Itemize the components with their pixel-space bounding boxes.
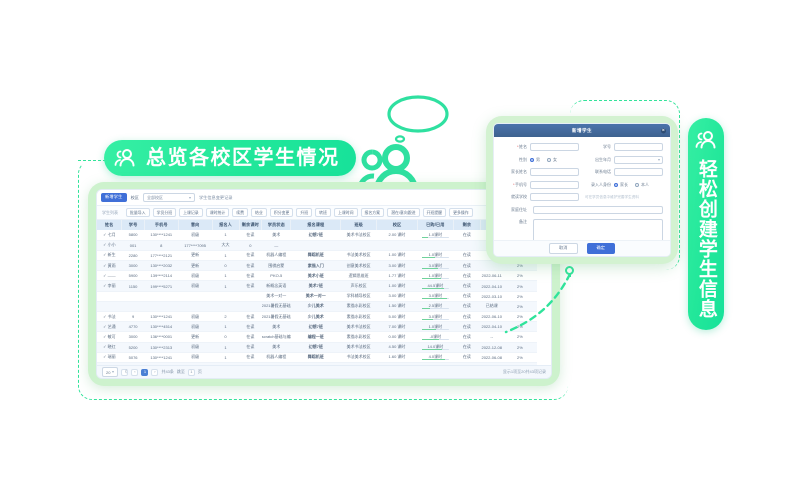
cell-r10-c11: 在读 [453, 332, 480, 342]
table-toolbar: 学生列表 批量导入学员分班上课记录课时统计续费结业积分变更升班转班上课时间报名方… [97, 206, 551, 220]
cell-r5-c7: 美术7班 [291, 281, 341, 291]
table-body: ✓ 七月5800130****1241初级1在读美术幻想7班美术书法校区2.00… [97, 230, 551, 365]
cell-r10-c9: 0.00 课时 [377, 332, 418, 342]
column-header-3[interactable]: 意向 [178, 220, 212, 230]
page-size-value: 20 [106, 370, 110, 375]
table-row[interactable]: ✓ 晓红5200130****2313初级1在读美术幻想7班美术书法校区4.50… [97, 342, 551, 352]
cell-r2-c3: 更新 [178, 250, 212, 260]
cell-r8-c7: 少儿美术 [291, 312, 341, 322]
cell-r13-c6: 小提琴 [262, 362, 291, 365]
progress-bar [422, 329, 449, 330]
change-log-link[interactable]: 学生信息变更记录 [199, 195, 233, 201]
cell-r0-c11: 在读 [453, 230, 480, 240]
campus-filter-value: 全部校区 [147, 195, 163, 201]
gender-option-female[interactable]: 女 [547, 157, 557, 163]
cell-r8-c5: 在读 [239, 312, 262, 322]
cell-r8-c3: 初级 [178, 312, 212, 322]
progress-bar [422, 237, 449, 238]
cell-r9-c6: 美术 [262, 322, 291, 332]
cell-r2-c6: 机器人编程 [262, 250, 291, 260]
cell-r10-c7: 编程一班 [291, 332, 341, 342]
cell-r7-c11: 在读 [453, 301, 480, 311]
form-row: *姓名 学号 [501, 143, 663, 151]
school-input[interactable] [530, 193, 579, 201]
column-header-4[interactable]: 报名人 [212, 220, 239, 230]
cell-r12-c13: 2% [503, 352, 537, 362]
column-header-1[interactable]: 学号 [122, 220, 145, 230]
cell-r5-c4: 1 [212, 281, 239, 291]
column-header-5[interactable]: 剩余课时 [239, 220, 262, 230]
column-header-0[interactable]: 姓名 [97, 220, 122, 230]
close-icon[interactable]: × [661, 128, 666, 133]
toolbar-button-3[interactable]: 课时统计 [206, 208, 230, 218]
cell-r10-c2: 136****0001 [144, 332, 178, 342]
radio-dot-icon [547, 158, 551, 162]
dialog-footer: 取消 确定 [494, 240, 670, 256]
gender-option-male-label: 男 [536, 157, 540, 163]
column-header-11[interactable]: 剩余 [453, 220, 480, 230]
toolbar-button-13[interactable]: 更多操作 [449, 208, 473, 218]
cell-r7-c6: 2021暑假无基础入门课 [262, 301, 291, 311]
cell-r13-c13: 2% [503, 362, 537, 365]
cell-r5-c10: 44.5课时 [417, 281, 453, 291]
cell-r6-c4 [212, 291, 239, 301]
toolbar-title: 学生列表 [102, 210, 118, 216]
birthday-picker[interactable] [614, 156, 663, 164]
cell-r1-c11 [453, 240, 480, 250]
cell-r9-c0: ✓ 艺通 [97, 322, 122, 332]
table-row[interactable]: ✓ 瑞丽5076130****1241初级1在读机器人编程舞蹈机班书法美术校区1… [97, 352, 551, 362]
chevron-down-icon [189, 197, 191, 199]
field-phone: *手机号 [501, 181, 579, 189]
column-header-2[interactable]: 手机号 [144, 220, 178, 230]
cell-r12-c6: 机器人编程 [262, 352, 291, 362]
progress-bar [422, 288, 449, 289]
name-input[interactable] [530, 143, 579, 151]
cell-r5-c1: 1150 [122, 281, 145, 291]
cell-r10-c1: 3000 [122, 332, 145, 342]
progress-bar [422, 339, 449, 340]
cell-r12-c11: 在读 [453, 352, 480, 362]
toolbar-button-4[interactable]: 续费 [232, 208, 248, 218]
table-row[interactable]: ✓ 世琳5100139****1241初级1在读小提琴小提琴基础1班舞蹈水彩校区… [97, 362, 551, 365]
badge-overview-label: 总览各校区学生情况 [146, 148, 340, 168]
field-gender-label: 性别 [501, 157, 527, 163]
cell-r7-c5 [239, 301, 262, 311]
toolbar-button-11[interactable]: 潜在/意向跟进 [387, 208, 419, 218]
cell-r2-c5: 在读 [239, 250, 262, 260]
dashed-connector-curve [500, 268, 590, 348]
cell-r3-c0: ✓ 黄雨 [97, 261, 122, 271]
column-header-10[interactable]: 已购/已用 [417, 220, 453, 230]
cell-r12-c10: 4.0课时 [417, 352, 453, 362]
cell-r5-c11: 在读 [453, 281, 480, 291]
cell-r4-c1: 5900 [122, 271, 145, 281]
table-row[interactable]: ✓ 黄雨3000130****2032更新0在读围棋启蒙素描入门创意美术校区3.… [97, 261, 551, 271]
cell-r3-c2: 130****2032 [144, 261, 178, 271]
cell-r9-c8: 美术书法校区 [341, 322, 377, 332]
student-list-window: 新增学生 校区 全部校区 学生信息变更记录 学生姓名/手机号 学生列表 批量导入… [96, 189, 552, 379]
cell-r12-c9: 1.60 课时 [377, 352, 418, 362]
radio-dot-icon [614, 183, 618, 187]
cell-r10-c8: 素描水彩校区 [341, 332, 377, 342]
cell-r3-c1: 3000 [122, 261, 145, 271]
source-option-self[interactable]: 本人 [635, 182, 649, 188]
next-page-button[interactable]: › [151, 369, 158, 376]
cell-r12-c8: 书法美术校区 [341, 352, 377, 362]
toolbar-button-1[interactable]: 学员分班 [153, 208, 177, 218]
field-remark-label: 备注 [501, 219, 527, 225]
cell-r11-c0: ✓ 晓红 [97, 342, 122, 352]
cell-r1-c3: 177****7095 [178, 240, 212, 250]
cell-r12-c5: 在读 [239, 352, 262, 362]
cell-r5-c5: 在读 [239, 281, 262, 291]
cell-r4-c11: 在读 [453, 271, 480, 281]
field-birthday: 出生年月 [585, 156, 663, 164]
cell-r8-c2: 130****1241 [144, 312, 178, 322]
cell-r13-c12: 2022-12-08 [480, 362, 503, 365]
cell-r13-c5: 在读 [239, 362, 262, 365]
toolbar-button-9[interactable]: 上课时间 [334, 208, 358, 218]
cell-r3-c7: 素描入门 [291, 261, 341, 271]
cell-r1-c4: 大大 [212, 240, 239, 250]
school-hint-text: 可在学员信息中维护完善学生资料 [585, 195, 639, 200]
cell-r2-c1: 2280 [122, 250, 145, 260]
records-summary: 显示1项至20共43项记录 [503, 369, 546, 375]
cell-r7-c10: 2.5课时 [417, 301, 453, 311]
table-row[interactable]: 2021暑假无基础入门课少儿美术素描水彩校区1.50 课时2.5课时在读已结课2… [97, 301, 551, 311]
cell-r10-c6: scratch基础与编程 [262, 332, 291, 342]
cell-r6-c10: 3.0课时 [417, 291, 453, 301]
cell-r5-c9: 1.00 课时 [377, 281, 418, 291]
cell-r9-c10: 1.0课时 [417, 322, 453, 332]
cell-r7-c7: 少儿美术 [291, 301, 341, 311]
cell-r1-c9 [377, 240, 418, 250]
confirm-button[interactable]: 确定 [587, 243, 615, 254]
form-row: 就读学校 可在学员信息中维护完善学生资料 [501, 193, 663, 201]
cell-r1-c6: — [262, 240, 291, 250]
promo-graphic: 总览各校区学生情况 轻松创建学生信息 新增学生 校区 全部校区 学 [0, 0, 800, 500]
cell-r10-c0: ✓ 敏可 [97, 332, 122, 342]
cell-r11-c10: 14.0课时 [417, 342, 453, 352]
column-header-6[interactable]: 学员状态 [262, 220, 291, 230]
field-student-no-label: 学号 [585, 144, 611, 150]
cell-r6-c7: 美术一对一 [291, 291, 341, 301]
cell-r7-c1 [122, 301, 145, 311]
cell-r1-c2: 8 [144, 240, 178, 250]
cell-r12-c3: 初级 [178, 352, 212, 362]
cell-r2-c4: 1 [212, 250, 239, 260]
cell-r9-c9: 7.00 课时 [377, 322, 418, 332]
field-school-hint: 可在学员信息中维护完善学生资料 [585, 195, 663, 200]
cell-r6-c6: 美术一对一 [262, 291, 291, 301]
cell-r12-c4: 1 [212, 352, 239, 362]
source-option-self-label: 本人 [641, 182, 649, 188]
cell-r7-c2 [144, 301, 178, 311]
cell-r9-c2: 130****4514 [144, 322, 178, 332]
cell-r8-c8: 素描水彩校区 [341, 312, 377, 322]
table-header-row: 姓名学号手机号意向报名人剩余课时学员状态报名课程班级校区已购/已用剩余状态报名日… [97, 220, 551, 230]
cell-r7-c4 [212, 301, 239, 311]
toolbar-button-group: 批量导入学员分班上课记录课时统计续费结业积分变更升班转班上课时间报名方案潜在/意… [126, 208, 473, 218]
cell-r9-c11: 在读 [453, 322, 480, 332]
field-parent-label: 家长姓名 [501, 169, 527, 175]
cell-r11-c2: 130****2313 [144, 342, 178, 352]
cell-r4-c4: 1 [212, 271, 239, 281]
first-page-button[interactable]: 《 [121, 369, 128, 376]
cell-r3-c4: 0 [212, 261, 239, 271]
cell-r4-c3: 初级 [178, 271, 212, 281]
cell-r2-c9: 1.00 课时 [377, 250, 418, 260]
cell-r5-c0: ✓ 李丽 [97, 281, 122, 291]
cell-r0-c4: 1 [212, 230, 239, 240]
address-input[interactable] [533, 206, 663, 214]
progress-bar [422, 349, 449, 350]
field-phone-label: *手机号 [501, 182, 527, 188]
progress-bar [422, 268, 449, 269]
cell-r9-c3: 初级 [178, 322, 212, 332]
cell-r0-c7: 幻想7班 [291, 230, 341, 240]
toolbar-button-8[interactable]: 转班 [315, 208, 331, 218]
cell-r9-c1: 4770 [122, 322, 145, 332]
cell-r13-c11: 在读 [453, 362, 480, 365]
cell-r4-c0: ✓ —— [97, 271, 122, 281]
field-phone-label-text: 手机号 [515, 182, 527, 187]
cell-r1-c7 [291, 240, 341, 250]
cell-r4-c8: 逻辑思维班 [341, 271, 377, 281]
cell-r0-c8: 美术书法校区 [341, 230, 377, 240]
field-parent-phone-label: 联系电话 [585, 169, 611, 175]
cell-r13-c2: 139****1241 [144, 362, 178, 365]
cell-r12-c1: 5076 [122, 352, 145, 362]
field-student-no: 学号 [585, 143, 663, 151]
page-size-select[interactable]: 20 [102, 367, 118, 377]
dialog-title: 新增学生 [572, 128, 592, 134]
field-name: *姓名 [501, 143, 579, 151]
cell-r4-c9: 1.77 课时 [377, 271, 418, 281]
cell-r13-c1: 5100 [122, 362, 145, 365]
jump-input[interactable]: 1 [188, 369, 195, 376]
cell-r1-c10 [417, 240, 453, 250]
cell-r11-c11: 在读 [453, 342, 480, 352]
cell-r2-c2: 177****2121 [144, 250, 178, 260]
cell-r6-c5 [239, 291, 262, 301]
cell-r3-c3: 更新 [178, 261, 212, 271]
form-row: 家长姓名 联系电话 [501, 168, 663, 176]
cell-r5-c6: 新概念英语 [262, 281, 291, 291]
campus-filter-label: 校区 [131, 195, 139, 201]
cell-r4-c6: PKO-5 [262, 271, 291, 281]
cell-r13-c3: 初级 [178, 362, 212, 365]
cell-r2-c0: ✓ 新生 [97, 250, 122, 260]
cell-r11-c1: 5200 [122, 342, 145, 352]
field-school-label: 就读学校 [501, 194, 527, 200]
table-row[interactable]: ✓ 七月5800130****1241初级1在读美术幻想7班美术书法校区2.00… [97, 230, 551, 240]
cell-r3-c6: 围棋启蒙 [262, 261, 291, 271]
cell-r7-c9: 1.50 课时 [377, 301, 418, 311]
table-row[interactable]: ✓ 敏可3000136****0001更新0在读scratch基础与编程编程一班… [97, 332, 551, 342]
column-header-9[interactable]: 校区 [377, 220, 418, 230]
field-address-label: 家庭住址 [501, 207, 527, 213]
chevron-down-icon [112, 371, 114, 373]
cell-r9-c4: 1 [212, 322, 239, 332]
cancel-button[interactable]: 取消 [549, 243, 577, 254]
form-row: 家庭住址 [501, 206, 663, 214]
cell-r1-c5: 0 [239, 240, 262, 250]
cell-r11-c9: 4.50 课时 [377, 342, 418, 352]
cell-r13-c0: ✓ 世琳 [97, 362, 122, 365]
pagination-bar: 20 《 ‹ 1 › 共43条 跳至 1 页 显示1项至20共43项记录 [97, 365, 551, 378]
cell-r9-c5: 在读 [239, 322, 262, 332]
remark-textarea[interactable] [533, 219, 663, 240]
gender-option-female-label: 女 [553, 157, 557, 163]
cell-r0-c3: 初级 [178, 230, 212, 240]
cell-r1-c8 [341, 240, 377, 250]
form-row: *手机号 录入人身份 家长 本人 [501, 181, 663, 189]
field-school: 就读学校 [501, 193, 579, 201]
cell-r13-c9: 1.52 课时 [377, 362, 418, 365]
toolbar-button-10[interactable]: 报名方案 [361, 208, 385, 218]
student-table: 姓名学号手机号意向报名人剩余课时学员状态报名课程班级校区已购/已用剩余状态报名日… [97, 220, 551, 365]
student-table-wrapper[interactable]: 姓名学号手机号意向报名人剩余课时学员状态报名课程班级校区已购/已用剩余状态报名日… [97, 220, 551, 365]
cell-r4-c7: 美术小班 [291, 271, 341, 281]
dialog-body: *姓名 学号 性别 男 女 [494, 137, 670, 240]
field-name-label-text: 姓名 [519, 144, 527, 149]
badge-overview: 总览各校区学生情况 [104, 140, 356, 176]
table-row[interactable]: ✓ 小小0018177****7095大大0—2% [97, 240, 551, 250]
progress-bar [422, 298, 449, 299]
cell-r13-c4: 1 [212, 362, 239, 365]
cell-r6-c8: 学科辅导校区 [341, 291, 377, 301]
column-header-8[interactable]: 班级 [341, 220, 377, 230]
column-header-7[interactable]: 报名课程 [291, 220, 341, 230]
jump-suffix: 页 [198, 369, 202, 375]
cell-r11-c8: 美术书法校区 [341, 342, 377, 352]
field-source-label: 录入人身份 [585, 182, 611, 188]
total-count-text: 共43条 [161, 369, 173, 375]
source-option-parent[interactable]: 家长 [614, 182, 628, 188]
left-dashed-frame-top [78, 160, 106, 161]
toolbar-button-7[interactable]: 升班 [296, 208, 312, 218]
phone-input[interactable] [530, 181, 579, 189]
cell-r8-c6: 2021暑假无基础入门课 [262, 312, 291, 322]
cell-r0-c9: 2.00 课时 [377, 230, 418, 240]
student-no-input[interactable] [614, 143, 663, 151]
cell-r0-c2: 130****1241 [144, 230, 178, 240]
cell-r10-c10: -0课时 [417, 332, 453, 342]
field-source: 录入人身份 家长 本人 [585, 182, 663, 188]
cell-r2-c8: 书法美术校区 [341, 250, 377, 260]
cell-r3-c5: 在读 [239, 261, 262, 271]
cell-r6-c3 [178, 291, 212, 301]
current-page-button[interactable]: 1 [141, 369, 148, 376]
prev-page-button[interactable]: ‹ [131, 369, 138, 376]
form-row: 性别 男 女 出生年月 [501, 156, 663, 164]
cell-r7-c8: 素描水彩校区 [341, 301, 377, 311]
cell-r6-c0 [97, 291, 122, 301]
cell-r1-c0: ✓ 小小 [97, 240, 122, 250]
cell-r11-c6: 美术 [262, 342, 291, 352]
cell-r8-c0: ✓ 书法 [97, 312, 122, 322]
toolbar-button-12[interactable]: 开班提醒 [423, 208, 447, 218]
modal-card: 新增学生 × *姓名 学号 性别 [486, 116, 678, 264]
cell-r6-c11: 在读 [453, 291, 480, 301]
cell-r0-c10: 1.0课时 [417, 230, 453, 240]
cell-r5-c8: 声乐校区 [341, 281, 377, 291]
cell-r10-c4: 0 [212, 332, 239, 342]
cell-r3-c10: 3.0课时 [417, 261, 453, 271]
people-icon [112, 145, 138, 171]
cell-r13-c8: 舞蹈水彩校区 [341, 362, 377, 365]
cell-r4-c5: 在读 [239, 271, 262, 281]
field-birthday-label: 出生年月 [585, 157, 611, 163]
cell-r10-c3: 更新 [178, 332, 212, 342]
cell-r8-c1: 9 [122, 312, 145, 322]
badge-create-student: 轻松创建学生信息 [688, 118, 724, 330]
cell-r11-c4: 1 [212, 342, 239, 352]
progress-bar [422, 257, 449, 258]
gender-radio-group: 男 女 [530, 157, 579, 163]
cell-r6-c1 [122, 291, 145, 301]
progress-bar [422, 319, 449, 320]
cell-r1-c1: 001 [122, 240, 145, 250]
toolbar-button-0[interactable]: 批量导入 [126, 208, 150, 218]
cell-r8-c11: 在读 [453, 312, 480, 322]
cell-r13-c10: 3.0课时 [417, 362, 453, 365]
table-row[interactable]: ✓ 新生2280177****2121更新1在读机器人编程舞蹈机班书法美术校区1… [97, 250, 551, 260]
cell-r12-c2: 130****1241 [144, 352, 178, 362]
chevron-down-icon [658, 159, 660, 161]
toolbar-button-5[interactable]: 结业 [251, 208, 267, 218]
cell-r3-c9: 3.00 课时 [377, 261, 418, 271]
cell-r10-c5: 在读 [239, 332, 262, 342]
connector-pin [565, 266, 574, 275]
cell-r8-c9: 5.00 课时 [377, 312, 418, 322]
table-row[interactable]: ✓ 书法9130****1241初级2在读2021暑假无基础入门课少儿美术素描水… [97, 312, 551, 322]
table-row[interactable]: ✓ 李丽1150199****5271初级1在读新概念英语美术7班声乐校区1.0… [97, 281, 551, 291]
gender-option-male[interactable]: 男 [530, 157, 540, 163]
source-option-parent-label: 家长 [620, 182, 628, 188]
cell-r4-c10: 1.0课时 [417, 271, 453, 281]
field-name-label: *姓名 [501, 144, 527, 150]
cell-r12-c0: ✓ 瑞丽 [97, 352, 122, 362]
cell-r2-c10: 1.0课时 [417, 250, 453, 260]
badge-create-student-label: 轻松创建学生信息 [696, 159, 716, 319]
cell-r8-c10: 3.0课时 [417, 312, 453, 322]
cell-r5-c2: 199****5271 [144, 281, 178, 291]
cell-r9-c7: 幻想7班 [291, 322, 341, 332]
cell-r11-c5: 在读 [239, 342, 262, 352]
parent-name-input[interactable] [530, 168, 579, 176]
table-row[interactable]: 美术一对一美术一对一学科辅导校区3.00 课时3.0课时在读2022-03-10… [97, 291, 551, 301]
toolbar-button-2[interactable]: 上课记录 [179, 208, 203, 218]
campus-filter-select[interactable]: 全部校区 [143, 193, 195, 202]
toolbar-button-6[interactable]: 积分变更 [270, 208, 294, 218]
cell-r11-c7: 幻想7班 [291, 342, 341, 352]
cell-r11-c3: 初级 [178, 342, 212, 352]
add-student-dialog: 新增学生 × *姓名 学号 性别 [493, 123, 671, 257]
people-icon [693, 127, 719, 153]
cell-r6-c2 [144, 291, 178, 301]
progress-bar [422, 308, 449, 309]
add-student-button[interactable]: 新增学生 [101, 193, 127, 202]
parent-phone-input[interactable] [614, 168, 663, 176]
table-row[interactable]: ✓ ——5900139****2114初级1在读PKO-5美术小班逻辑思维班1.… [97, 271, 551, 281]
cell-r0-c5: 在读 [239, 230, 262, 240]
dialog-title-bar: 新增学生 × [494, 124, 670, 137]
cell-r13-c7: 小提琴基础1班 [291, 362, 341, 365]
table-row[interactable]: ✓ 艺通4770130****4514初级1在读美术幻想7班美术书法校区7.00… [97, 322, 551, 332]
